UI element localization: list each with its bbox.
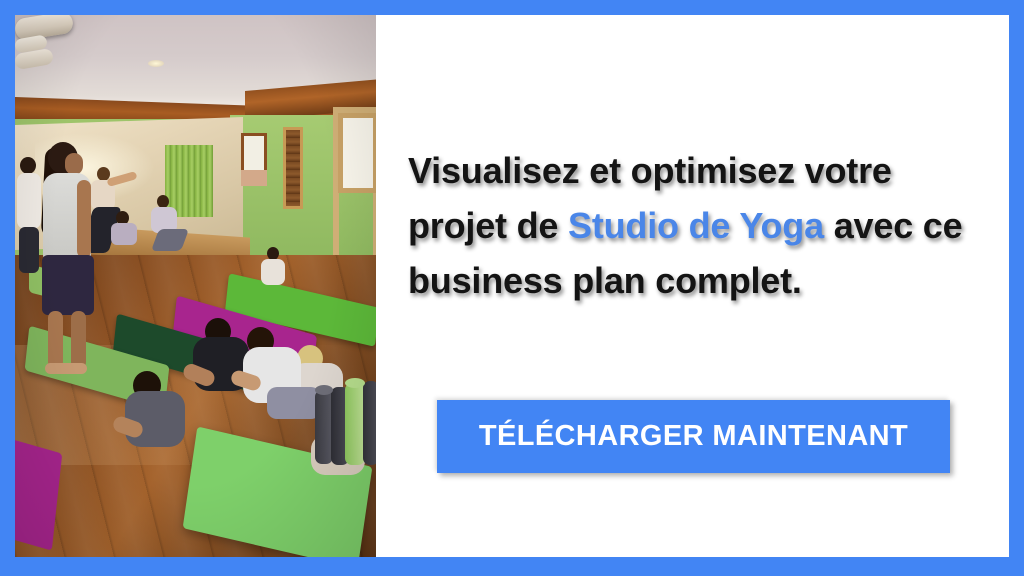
ad-banner: Visualisez et optimisez votre projet de … — [0, 0, 1024, 576]
content-panel: Visualisez et optimisez votre projet de … — [376, 15, 1009, 557]
headline-line-2-prefix: projet de — [408, 205, 568, 246]
headline-accent-text: Studio de Yoga — [568, 205, 824, 246]
headline-line-1: Visualisez et optimisez votre — [408, 150, 892, 191]
headline-line-3: business plan complet. — [408, 260, 802, 301]
download-now-button[interactable]: TÉLÉCHARGER MAINTENANT — [437, 400, 950, 473]
yoga-studio-photo — [15, 15, 376, 557]
photo-vignette — [15, 15, 376, 557]
headline: Visualisez et optimisez votre projet de … — [408, 143, 988, 308]
ad-inner-panel: Visualisez et optimisez votre projet de … — [15, 15, 1009, 557]
headline-line-2-suffix: avec ce — [824, 205, 963, 246]
cta-container: TÉLÉCHARGER MAINTENANT — [437, 400, 950, 473]
